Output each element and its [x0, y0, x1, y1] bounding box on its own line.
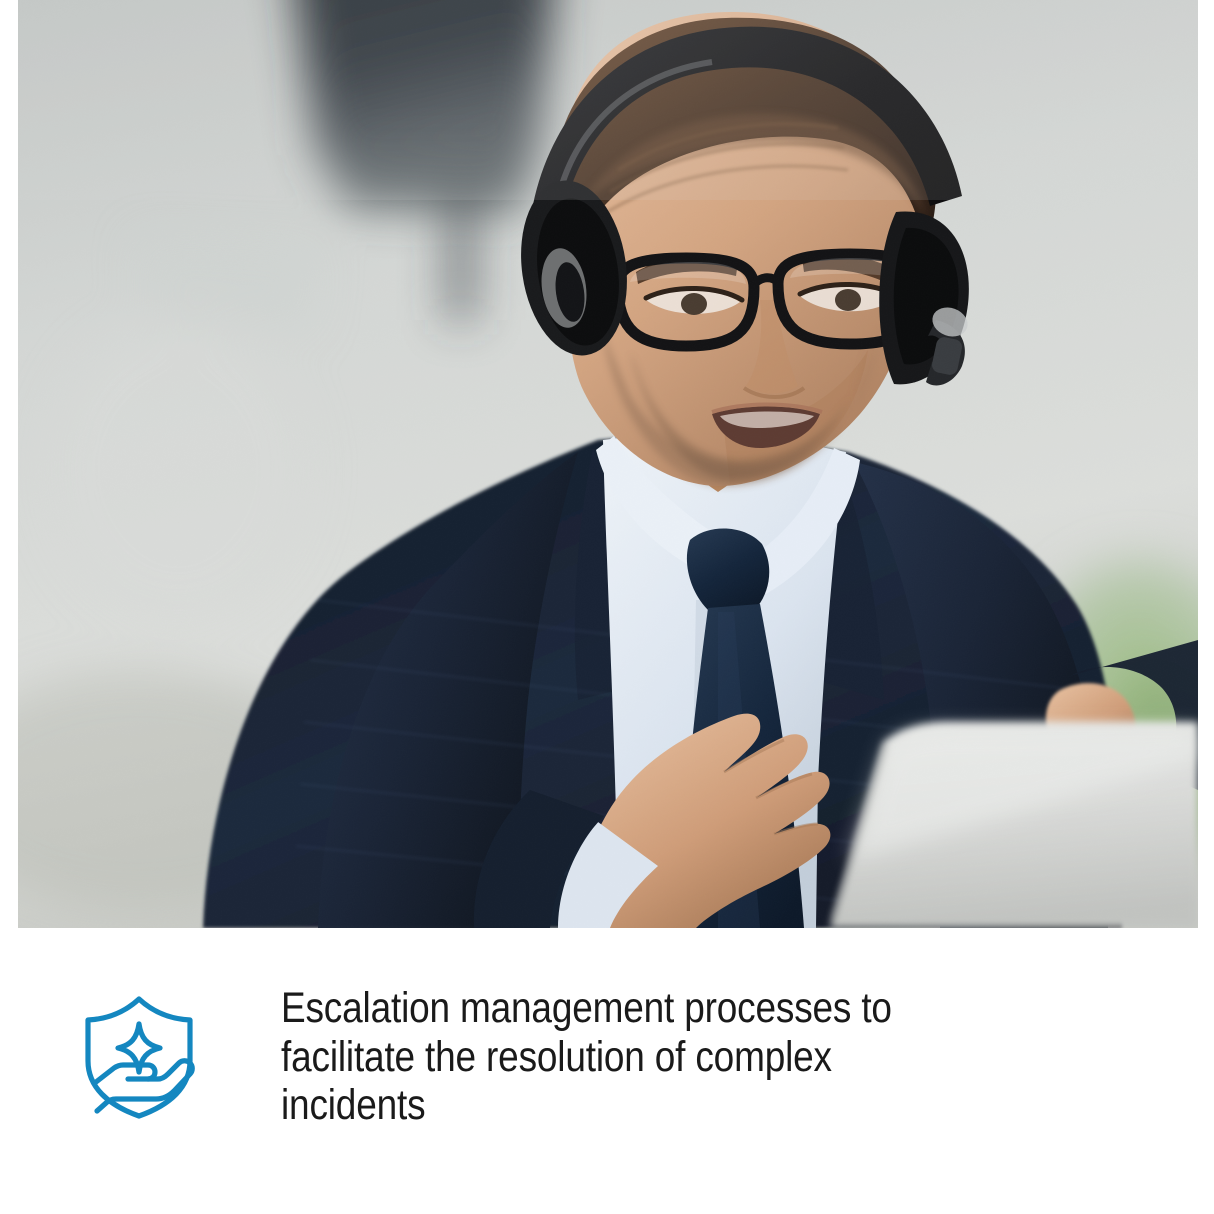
shield-sparkle-hand-icon-svg — [74, 990, 204, 1120]
photo-laptop — [830, 722, 1198, 928]
hero-photo-illustration — [18, 0, 1198, 928]
shield-sparkle-hand-icon — [74, 990, 204, 1120]
product-feature-card: Escalation management processes to facil… — [0, 0, 1214, 1214]
hero-photo — [18, 0, 1198, 928]
caption-text: Escalation management processes to facil… — [281, 984, 960, 1130]
caption-row: Escalation management processes to facil… — [0, 928, 1214, 1214]
